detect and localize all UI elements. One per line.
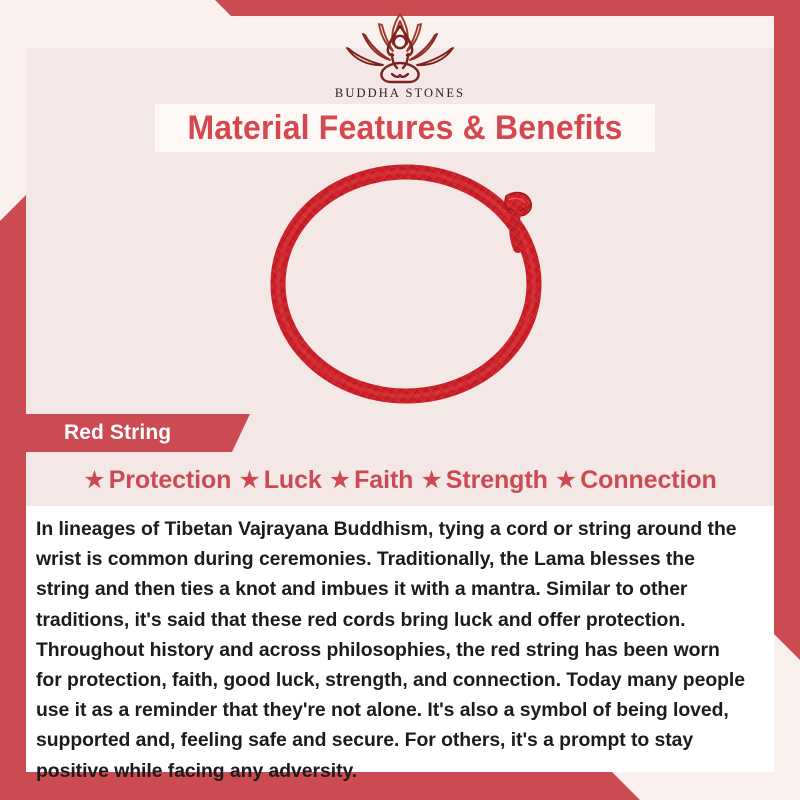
benefit-label: Strength xyxy=(446,466,548,495)
benefit-label: Connection xyxy=(580,466,717,495)
product-image-area xyxy=(26,152,774,412)
product-infographic: BUDDHA STONES Material Features & Benefi… xyxy=(0,0,800,800)
header: BUDDHA STONES Material Features & Benefi… xyxy=(0,0,800,160)
benefits-row: ★ Protection ★ Luck ★ Faith ★ Strength ★… xyxy=(26,458,774,502)
description-text: In lineages of Tibetan Vajrayana Buddhis… xyxy=(26,506,774,786)
star-icon: ★ xyxy=(420,468,442,493)
benefit-item: ★ Strength xyxy=(420,466,547,495)
benefit-item: ★ Connection xyxy=(555,466,717,495)
star-icon: ★ xyxy=(329,468,351,493)
brand-name: BUDDHA STONES xyxy=(0,86,800,101)
material-banner-label: Red String xyxy=(26,414,250,452)
benefit-item: ★ Faith xyxy=(329,466,414,495)
star-icon: ★ xyxy=(238,468,260,493)
benefit-item: ★ Protection xyxy=(83,466,231,495)
page-title-text: Material Features & Benefits xyxy=(170,104,640,152)
benefit-label: Faith xyxy=(354,466,413,495)
page-title: Material Features & Benefits xyxy=(155,104,655,152)
red-string-bracelet-image xyxy=(258,156,578,406)
decorative-left-bar xyxy=(0,195,26,800)
benefit-item: ★ Luck xyxy=(238,466,321,495)
description-block: In lineages of Tibetan Vajrayana Buddhis… xyxy=(26,506,774,772)
material-banner: Red String xyxy=(26,414,250,452)
brand-logo: BUDDHA STONES xyxy=(0,8,800,101)
star-icon: ★ xyxy=(83,468,105,493)
lotus-meditation-figure-icon xyxy=(335,8,465,84)
benefit-label: Protection xyxy=(109,466,232,495)
star-icon: ★ xyxy=(555,468,577,493)
benefit-label: Luck xyxy=(264,466,322,495)
